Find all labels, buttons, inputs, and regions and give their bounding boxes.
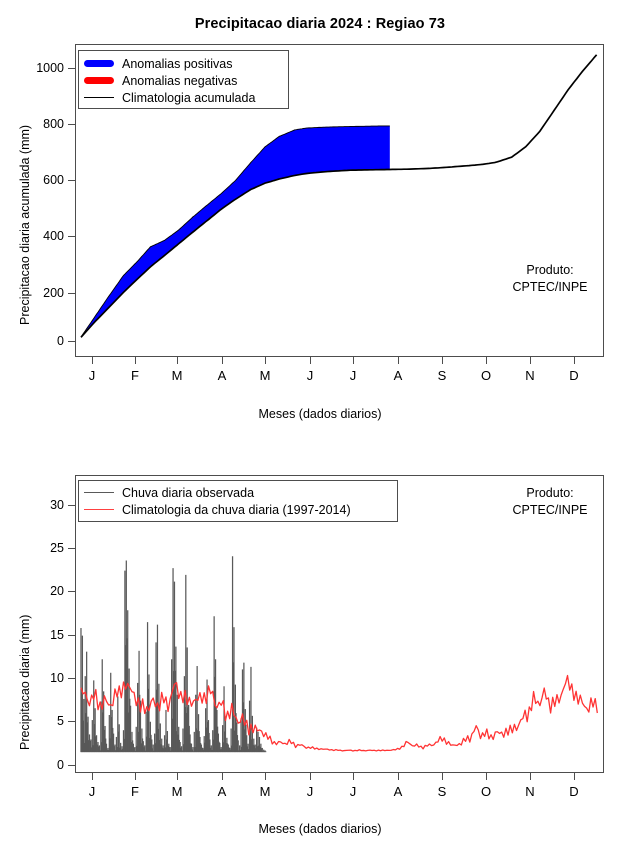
bottom-xtick-mark-may [265, 773, 266, 780]
bottom-xtick-mark-nov [530, 773, 531, 780]
top-ytick-1000: 1000 [18, 61, 64, 75]
daily-precipitation-panel: Precipitacao diaria (mm) 0 5 10 15 20 25… [0, 430, 640, 850]
bottom-legend: Chuva diaria observada Climatologia da c… [78, 480, 398, 522]
legend-item-anomalias-positivas[interactable]: Anomalias positivas [79, 55, 288, 72]
bottom-ytick-mark-25 [68, 548, 75, 549]
legend-label-climatologia-acumulada: Climatologia acumulada [119, 91, 255, 105]
bottom-xtick-mark-mar [177, 773, 178, 780]
bottom-xtick-oct: O [481, 784, 491, 799]
positive-anomaly-fill [81, 126, 390, 337]
red-bar-icon [79, 77, 119, 84]
bottom-ytick-20: 20 [18, 584, 64, 598]
top-ytick-mark-0 [68, 341, 75, 342]
bottom-xtick-sep: S [438, 784, 447, 799]
cumulative-precipitation-panel: Precipitacao diaria 2024 : Regiao 73 Pre… [0, 0, 640, 430]
bottom-xtick-mark-aug [398, 773, 399, 780]
produto-line2: CPTEC/INPE [490, 279, 610, 296]
top-xtick-jun: J [307, 368, 314, 383]
top-xtick-nov: N [525, 368, 534, 383]
bottom-ytick-mark-20 [68, 591, 75, 592]
produto-bottom-line2: CPTEC/INPE [490, 502, 610, 519]
top-ytick-800: 800 [18, 117, 64, 131]
gray-line-icon [79, 492, 119, 494]
bottom-xtick-mark-jul [353, 773, 354, 780]
bottom-xtick-feb: F [131, 784, 139, 799]
bottom-ytick-10: 10 [18, 671, 64, 685]
top-xtick-sep: S [438, 368, 447, 383]
bottom-xtick-jul: J [350, 784, 357, 799]
top-xtick-mark-dec [574, 357, 575, 364]
bottom-xtick-mark-jun [310, 773, 311, 780]
top-xtick-mark-apr [222, 357, 223, 364]
top-xtick-mar: M [172, 368, 183, 383]
top-xaxis-label: Meses (dados diarios) [0, 407, 640, 421]
produto-bottom-line1: Produto: [490, 485, 610, 502]
legend-item-climatologia-diaria[interactable]: Climatologia da chuva diaria (1997-2014) [79, 501, 397, 518]
top-ytick-mark-800 [68, 124, 75, 125]
top-ytick-mark-600 [68, 180, 75, 181]
bottom-xaxis-label: Meses (dados diarios) [0, 822, 640, 836]
top-xtick-mark-mar [177, 357, 178, 364]
figure-root: Precipitacao diaria 2024 : Regiao 73 Pre… [0, 0, 640, 850]
produto-annotation-top: Produto: CPTEC/INPE [490, 262, 610, 296]
top-xtick-mark-nov [530, 357, 531, 364]
top-xtick-mark-feb [135, 357, 136, 364]
bottom-ytick-mark-10 [68, 678, 75, 679]
top-xtick-mark-jan [92, 357, 93, 364]
bottom-ytick-25: 25 [18, 541, 64, 555]
legend-label-chuva-observada: Chuva diaria observada [119, 486, 254, 500]
legend-item-chuva-observada[interactable]: Chuva diaria observada [79, 484, 397, 501]
top-xtick-aug: A [394, 368, 403, 383]
top-ytick-400: 400 [18, 229, 64, 243]
bottom-ytick-mark-15 [68, 635, 75, 636]
bottom-ytick-30: 30 [18, 498, 64, 512]
top-xtick-mark-aug [398, 357, 399, 364]
top-xtick-may: M [260, 368, 271, 383]
legend-label-anomalias-positivas: Anomalias positivas [119, 57, 232, 71]
page-title: Precipitacao diaria 2024 : Regiao 73 [0, 16, 640, 32]
top-xtick-mark-may [265, 357, 266, 364]
blue-bar-icon [79, 60, 119, 67]
bottom-xtick-mark-oct [486, 773, 487, 780]
top-ytick-mark-1000 [68, 68, 75, 69]
bottom-ytick-15: 15 [18, 628, 64, 642]
top-xtick-oct: O [481, 368, 491, 383]
black-line-icon [79, 97, 119, 99]
top-xtick-dec: D [569, 368, 578, 383]
bottom-xtick-nov: N [525, 784, 534, 799]
top-ytick-0: 0 [18, 334, 64, 348]
top-ytick-mark-200 [68, 293, 75, 294]
legend-item-anomalias-negativas[interactable]: Anomalias negativas [79, 72, 288, 89]
produto-annotation-bottom: Produto: CPTEC/INPE [490, 485, 610, 519]
bottom-xtick-mark-dec [574, 773, 575, 780]
top-xtick-apr: A [218, 368, 227, 383]
legend-label-climatologia-diaria: Climatologia da chuva diaria (1997-2014) [119, 503, 351, 517]
bottom-xtick-mark-jan [92, 773, 93, 780]
legend-item-climatologia-acumulada[interactable]: Climatologia acumulada [79, 89, 288, 106]
bottom-xtick-jun: J [307, 784, 314, 799]
bottom-ytick-0: 0 [18, 758, 64, 772]
top-xtick-jan: J [89, 368, 96, 383]
top-xtick-jul: J [350, 368, 357, 383]
top-ytick-mark-400 [68, 236, 75, 237]
bottom-xtick-apr: A [218, 784, 227, 799]
bottom-ytick-mark-30 [68, 505, 75, 506]
red-line-icon [79, 509, 119, 511]
bottom-xtick-jan: J [89, 784, 96, 799]
bottom-xtick-mar: M [172, 784, 183, 799]
bottom-ytick-mark-5 [68, 721, 75, 722]
top-ytick-600: 600 [18, 173, 64, 187]
produto-line1: Produto: [490, 262, 610, 279]
top-legend: Anomalias positivas Anomalias negativas … [78, 50, 289, 109]
bottom-xtick-aug: A [394, 784, 403, 799]
bottom-xtick-mark-apr [222, 773, 223, 780]
bottom-xtick-mark-feb [135, 773, 136, 780]
bottom-ytick-mark-0 [68, 765, 75, 766]
legend-label-anomalias-negativas: Anomalias negativas [119, 74, 237, 88]
top-xtick-mark-jul [353, 357, 354, 364]
bottom-xtick-mark-sep [442, 773, 443, 780]
bottom-ytick-5: 5 [18, 714, 64, 728]
top-xtick-mark-jun [310, 357, 311, 364]
top-ytick-200: 200 [18, 286, 64, 300]
bottom-xtick-may: M [260, 784, 271, 799]
top-xtick-feb: F [131, 368, 139, 383]
top-xtick-mark-oct [486, 357, 487, 364]
bottom-xtick-dec: D [569, 784, 578, 799]
top-xtick-mark-sep [442, 357, 443, 364]
